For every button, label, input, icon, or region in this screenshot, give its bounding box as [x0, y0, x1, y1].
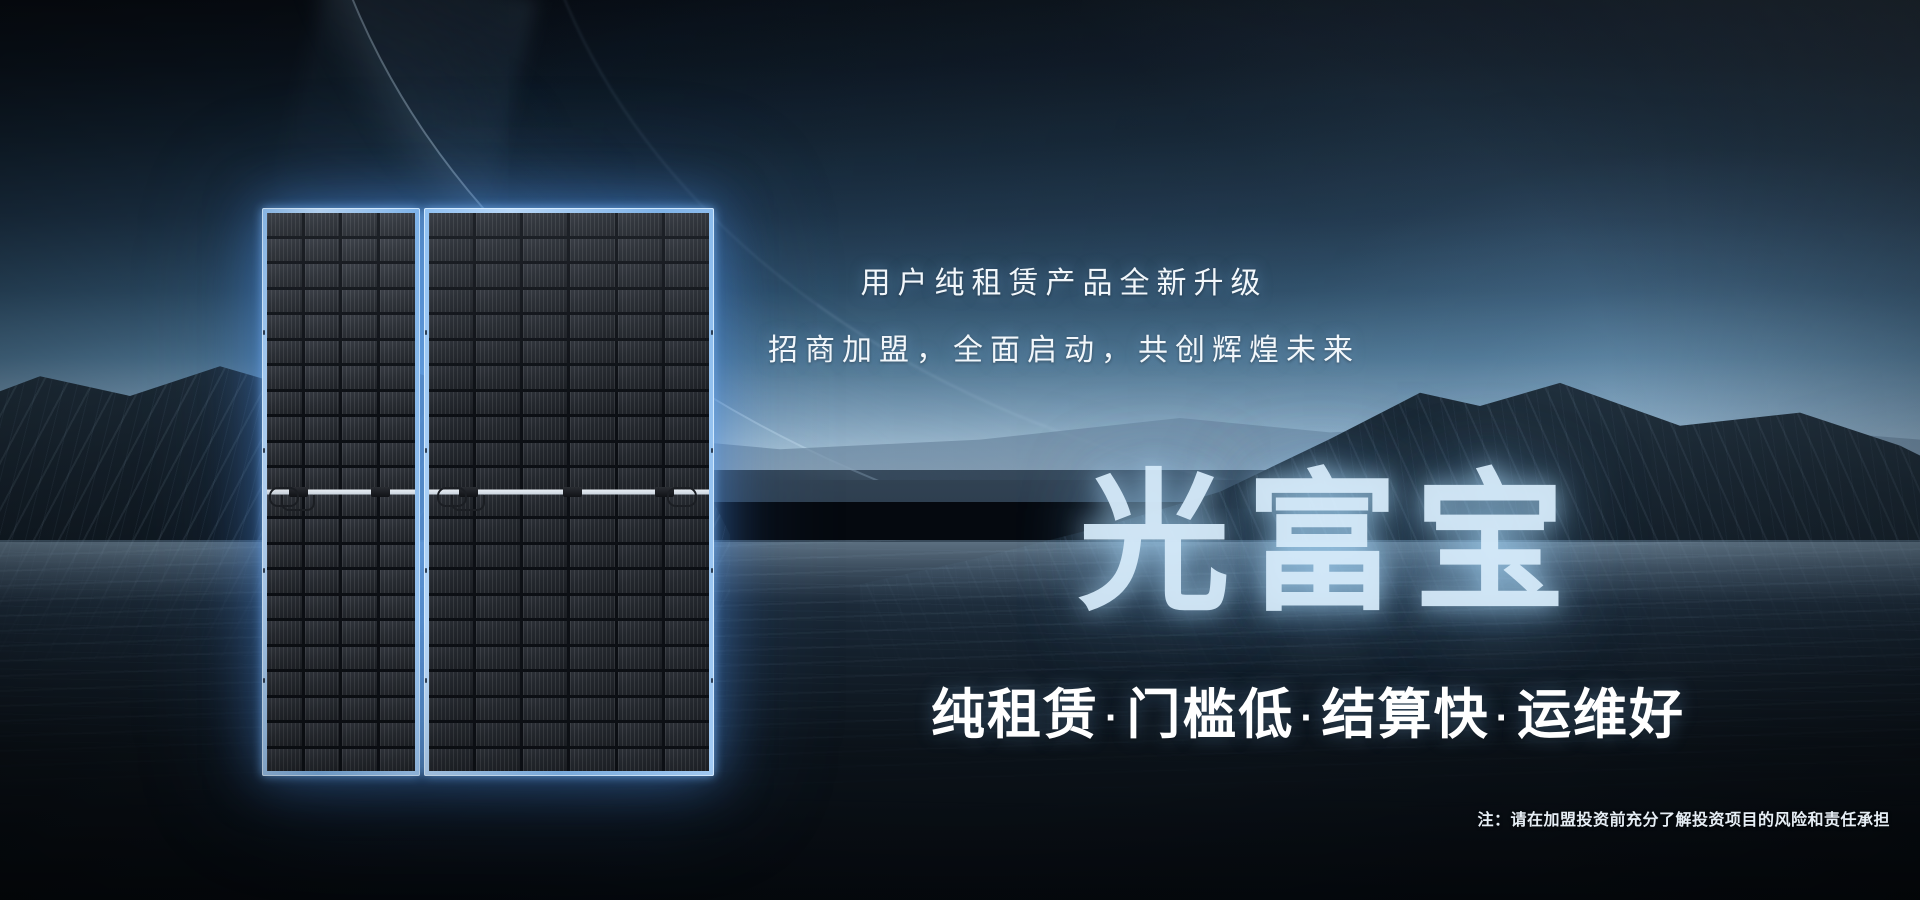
solar-cell-row: [429, 672, 709, 695]
solar-cell: [267, 596, 302, 619]
solar-cell: [665, 570, 709, 593]
solar-panel-right: [424, 208, 714, 776]
solar-cell: [429, 621, 473, 644]
promotional-banner: 用户纯租赁产品全新升级 招商加盟，全面启动，共创辉煌未来 光富宝 纯租赁·门槛低…: [0, 0, 1920, 900]
solar-cell: [342, 239, 377, 262]
solar-cell: [305, 443, 340, 466]
solar-cell-row: [429, 366, 709, 389]
brand-headline: 光富宝: [1078, 420, 1582, 640]
solar-cell-row: [429, 570, 709, 593]
solar-cell: [267, 417, 302, 440]
solar-cell: [476, 723, 520, 746]
solar-cell-row: [429, 392, 709, 415]
solar-cell: [267, 264, 302, 287]
solar-cell: [305, 596, 340, 619]
solar-cell: [618, 647, 662, 670]
solar-cell: [342, 621, 377, 644]
solar-cell: [342, 290, 377, 313]
solar-cell: [305, 290, 340, 313]
solar-cell: [476, 443, 520, 466]
solar-cell-row: [267, 647, 415, 670]
solar-cell: [429, 290, 473, 313]
solar-cell-row: [429, 213, 709, 236]
frame-mount-hole: [711, 330, 713, 335]
solar-cell-row: [267, 519, 415, 542]
solar-cell-row: [267, 366, 415, 389]
solar-cell: [523, 443, 567, 466]
solar-cell: [476, 570, 520, 593]
solar-cell: [570, 570, 614, 593]
solar-cell-row: [267, 749, 415, 772]
solar-cell: [570, 443, 614, 466]
solar-cell: [305, 570, 340, 593]
solar-cell: [342, 443, 377, 466]
solar-cell: [342, 647, 377, 670]
solar-cell: [665, 213, 709, 236]
solar-cell-row: [267, 596, 415, 619]
solar-cell: [523, 264, 567, 287]
solar-cell: [267, 570, 302, 593]
solar-cell: [476, 749, 520, 772]
solar-cell: [380, 570, 415, 593]
frame-mount-hole: [425, 448, 427, 453]
frame-mount-hole: [711, 568, 713, 573]
solar-cell-row: [267, 264, 415, 287]
solar-cell: [523, 468, 567, 491]
solar-cell: [618, 570, 662, 593]
solar-cell: [429, 443, 473, 466]
solar-cell: [342, 366, 377, 389]
solar-cell: [523, 239, 567, 262]
solar-cell: [618, 723, 662, 746]
solar-cell: [665, 392, 709, 415]
solar-cell: [429, 723, 473, 746]
solar-cell: [267, 519, 302, 542]
solar-cell: [342, 596, 377, 619]
solar-cell: [523, 723, 567, 746]
solar-cell: [476, 468, 520, 491]
solar-cell: [342, 723, 377, 746]
solar-cell: [267, 443, 302, 466]
solar-cell: [523, 545, 567, 568]
solar-cell: [342, 749, 377, 772]
tagline-part-1: 纯租赁: [931, 685, 1099, 745]
frame-mount-hole: [263, 568, 265, 573]
solar-cell: [429, 545, 473, 568]
solar-cell: [380, 290, 415, 313]
solar-cell: [523, 570, 567, 593]
solar-cell: [429, 315, 473, 338]
solar-cell-row: [429, 519, 709, 542]
solar-cell: [618, 545, 662, 568]
frame-mount-hole: [425, 568, 427, 573]
solar-cell: [523, 621, 567, 644]
solar-cell: [618, 239, 662, 262]
solar-cell: [476, 315, 520, 338]
solar-cell: [665, 264, 709, 287]
solar-cell: [618, 749, 662, 772]
solar-cell: [570, 672, 614, 695]
solar-cell: [665, 366, 709, 389]
solar-cell-row: [267, 239, 415, 262]
solar-cell: [380, 698, 415, 721]
solar-cell: [380, 213, 415, 236]
solar-cell: [305, 545, 340, 568]
solar-cell: [476, 698, 520, 721]
solar-cell: [267, 723, 302, 746]
solar-cell: [342, 545, 377, 568]
solar-cell-row: [429, 443, 709, 466]
solar-cell-row: [429, 545, 709, 568]
solar-cell: [380, 519, 415, 542]
solar-cell-row: [267, 213, 415, 236]
solar-cell: [618, 698, 662, 721]
solar-cell: [618, 494, 662, 517]
solar-cell: [665, 443, 709, 466]
solar-cell: [342, 570, 377, 593]
solar-cell: [380, 392, 415, 415]
solar-cell-row: [267, 545, 415, 568]
solar-cell: [523, 672, 567, 695]
solar-cell: [305, 468, 340, 491]
solar-cell: [665, 596, 709, 619]
frame-mount-hole: [263, 330, 265, 335]
disclaimer-note: 注：请在加盟投资前充分了解投资项目的风险和责任承担: [1477, 806, 1890, 830]
solar-cell: [523, 366, 567, 389]
solar-cell: [570, 621, 614, 644]
tagline-part-4: 运维好: [1517, 685, 1685, 745]
solar-cell: [305, 723, 340, 746]
solar-cell: [267, 341, 302, 364]
solar-cell: [523, 392, 567, 415]
solar-cell-row: [267, 570, 415, 593]
solar-cell: [476, 239, 520, 262]
solar-cell-row: [267, 672, 415, 695]
solar-cell: [342, 672, 377, 695]
solar-cell: [380, 264, 415, 287]
solar-cell: [476, 417, 520, 440]
frame-mount-hole: [263, 678, 265, 683]
solar-cell: [342, 417, 377, 440]
solar-cell: [523, 494, 567, 517]
solar-cell: [523, 341, 567, 364]
solar-cell: [429, 417, 473, 440]
solar-cell: [429, 749, 473, 772]
solar-cell: [305, 417, 340, 440]
solar-cell: [342, 698, 377, 721]
solar-cell: [305, 264, 340, 287]
solar-cell: [570, 545, 614, 568]
solar-cell: [305, 672, 340, 695]
solar-cell: [429, 596, 473, 619]
junction-box: [563, 487, 582, 497]
solar-cell: [476, 545, 520, 568]
solar-cell-row: [267, 290, 415, 313]
solar-cell-row: [429, 596, 709, 619]
solar-cell: [476, 621, 520, 644]
solar-cell: [305, 647, 340, 670]
solar-cell: [618, 596, 662, 619]
solar-cell-row: [267, 723, 415, 746]
solar-cell: [665, 315, 709, 338]
solar-cell: [429, 341, 473, 364]
solar-cell: [380, 341, 415, 364]
solar-cell: [267, 315, 302, 338]
solar-cell: [305, 341, 340, 364]
solar-cell: [342, 519, 377, 542]
frame-mount-hole: [263, 448, 265, 453]
solar-cell: [380, 621, 415, 644]
solar-cell: [618, 264, 662, 287]
solar-cell: [618, 392, 662, 415]
solar-cell: [618, 290, 662, 313]
solar-cell: [380, 315, 415, 338]
solar-cell: [429, 213, 473, 236]
solar-cell-row: [267, 443, 415, 466]
solar-cell: [380, 417, 415, 440]
solar-cell: [523, 290, 567, 313]
solar-cell: [380, 647, 415, 670]
solar-cell-row: [429, 723, 709, 746]
solar-cell: [618, 341, 662, 364]
solar-cell: [476, 519, 520, 542]
solar-cell: [380, 239, 415, 262]
solar-cell: [570, 749, 614, 772]
solar-cell: [342, 341, 377, 364]
solar-cell: [342, 315, 377, 338]
solar-cell: [570, 264, 614, 287]
feature-tagline: 纯租赁·门槛低·结算快·运维好: [931, 670, 1685, 749]
solar-cell: [523, 698, 567, 721]
solar-cell: [570, 366, 614, 389]
subheading-line-2: 招商加盟，全面启动，共创辉煌未来: [768, 325, 1360, 369]
solar-cell-row: [429, 290, 709, 313]
solar-cell: [570, 519, 614, 542]
solar-cell: [523, 647, 567, 670]
solar-cell: [267, 290, 302, 313]
solar-cell-row: [267, 341, 415, 364]
solar-cell-row: [267, 417, 415, 440]
solar-panel-left: [262, 208, 420, 776]
solar-cell: [665, 417, 709, 440]
solar-cell-row: [267, 392, 415, 415]
panel-cable: [667, 487, 697, 507]
solar-cell: [570, 417, 614, 440]
solar-cell: [476, 341, 520, 364]
solar-cell-row: [429, 315, 709, 338]
solar-cell: [267, 239, 302, 262]
solar-cell: [267, 366, 302, 389]
solar-cell: [305, 519, 340, 542]
solar-cell: [618, 213, 662, 236]
solar-cell: [429, 264, 473, 287]
solar-cell: [476, 290, 520, 313]
solar-cell-row: [429, 749, 709, 772]
solar-cell: [429, 519, 473, 542]
solar-cell: [267, 621, 302, 644]
solar-cell: [665, 290, 709, 313]
solar-cell: [305, 366, 340, 389]
solar-cell: [618, 366, 662, 389]
solar-cell: [618, 519, 662, 542]
solar-cell: [429, 239, 473, 262]
panel-cable: [451, 495, 485, 511]
solar-cell-row: [429, 341, 709, 364]
solar-cell: [665, 698, 709, 721]
solar-cell: [476, 264, 520, 287]
tagline-part-2: 门槛低: [1126, 685, 1294, 745]
solar-cell: [429, 672, 473, 695]
panel-cable: [281, 495, 315, 511]
solar-cell: [618, 315, 662, 338]
solar-cell: [665, 545, 709, 568]
solar-cell: [523, 596, 567, 619]
solar-cell: [570, 315, 614, 338]
solar-cell-row: [267, 698, 415, 721]
solar-cell: [618, 417, 662, 440]
junction-box: [371, 487, 390, 497]
solar-cell: [305, 621, 340, 644]
solar-cell: [380, 545, 415, 568]
solar-cell: [380, 443, 415, 466]
solar-cell: [665, 621, 709, 644]
solar-cell: [570, 239, 614, 262]
solar-cell: [523, 417, 567, 440]
solar-cell-row: [429, 621, 709, 644]
frame-mount-hole: [711, 448, 713, 453]
solar-cell: [618, 621, 662, 644]
solar-cell: [267, 213, 302, 236]
solar-cell: [476, 647, 520, 670]
solar-cell: [267, 698, 302, 721]
subheading-line-1: 用户纯租赁产品全新升级: [861, 258, 1268, 302]
solar-cell: [523, 749, 567, 772]
solar-cell: [267, 749, 302, 772]
tagline-separator-icon: ·: [1099, 696, 1126, 740]
solar-cell: [429, 366, 473, 389]
solar-cell: [267, 392, 302, 415]
frame-mount-hole: [425, 678, 427, 683]
solar-cell-row: [429, 698, 709, 721]
solar-cell-row: [267, 621, 415, 644]
solar-cell: [429, 570, 473, 593]
solar-cell: [618, 672, 662, 695]
solar-cell: [665, 647, 709, 670]
solar-cell: [267, 545, 302, 568]
solar-cell: [570, 723, 614, 746]
solar-cell-row: [429, 264, 709, 287]
solar-cell-row: [429, 239, 709, 262]
solar-cell: [570, 698, 614, 721]
solar-cell: [267, 647, 302, 670]
solar-cell-grid-right: [429, 213, 709, 771]
solar-cell: [665, 672, 709, 695]
solar-cell: [380, 596, 415, 619]
solar-cell: [665, 723, 709, 746]
solar-cell: [380, 723, 415, 746]
solar-cell-row: [429, 417, 709, 440]
solar-cell: [665, 519, 709, 542]
solar-cell: [380, 672, 415, 695]
tagline-part-3: 结算快: [1322, 685, 1490, 745]
frame-mount-hole: [711, 678, 713, 683]
solar-cell: [570, 596, 614, 619]
solar-cell: [523, 213, 567, 236]
solar-cell: [429, 647, 473, 670]
solar-cell: [523, 519, 567, 542]
solar-panel-array: [262, 208, 714, 776]
frame-mount-hole: [425, 330, 427, 335]
tagline-separator-icon: ·: [1490, 696, 1517, 740]
solar-cell: [618, 443, 662, 466]
solar-cell: [570, 341, 614, 364]
solar-cell: [523, 315, 567, 338]
solar-cell: [305, 392, 340, 415]
solar-cell: [476, 596, 520, 619]
solar-cell: [570, 392, 614, 415]
solar-cell: [305, 213, 340, 236]
solar-cell-grid-left: [267, 213, 415, 771]
solar-cell: [665, 239, 709, 262]
solar-cell: [665, 749, 709, 772]
tagline-separator-icon: ·: [1294, 696, 1321, 740]
solar-cell: [429, 698, 473, 721]
solar-cell: [476, 213, 520, 236]
solar-cell: [476, 392, 520, 415]
solar-cell: [380, 749, 415, 772]
solar-cell: [570, 647, 614, 670]
solar-cell: [429, 392, 473, 415]
solar-cell: [570, 290, 614, 313]
solar-cell: [342, 264, 377, 287]
solar-cell: [476, 366, 520, 389]
solar-cell: [665, 341, 709, 364]
solar-cell: [570, 213, 614, 236]
solar-cell-row: [267, 315, 415, 338]
solar-cell: [380, 366, 415, 389]
solar-cell: [305, 315, 340, 338]
solar-cell-row: [429, 647, 709, 670]
solar-cell: [305, 698, 340, 721]
solar-cell: [305, 239, 340, 262]
solar-cell: [342, 213, 377, 236]
solar-cell: [267, 672, 302, 695]
solar-cell: [476, 672, 520, 695]
solar-cell: [342, 392, 377, 415]
solar-cell: [305, 749, 340, 772]
